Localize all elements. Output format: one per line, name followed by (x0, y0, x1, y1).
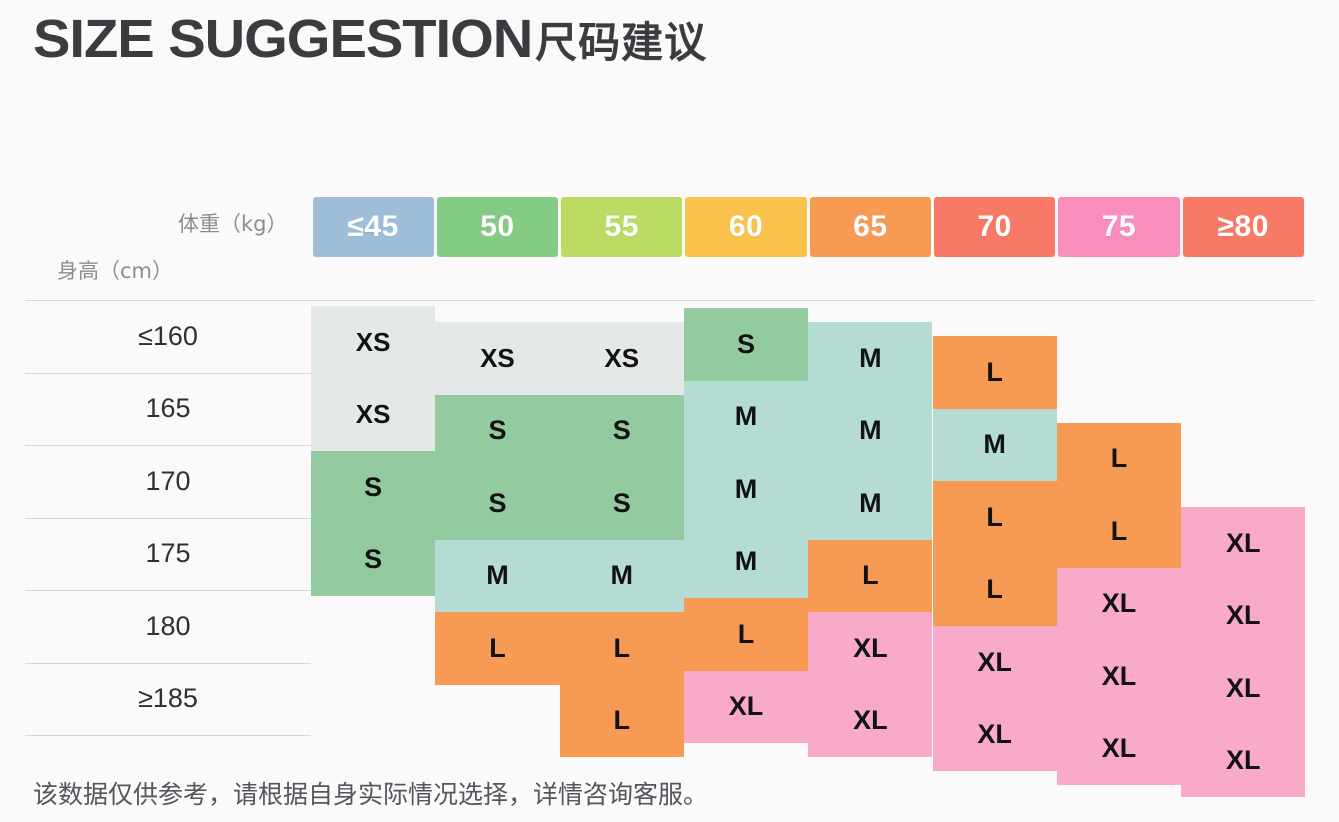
size-cell-label: M (486, 560, 509, 591)
row-divider (25, 735, 311, 736)
weight-header-50: 50 (437, 197, 558, 257)
height-row-label-text: ≤160 (138, 321, 198, 352)
size-cell-label: L (613, 633, 630, 664)
weight-header-label: 55 (605, 210, 639, 244)
size-cell-label: XL (1226, 600, 1261, 631)
size-cell-label: L (1111, 516, 1128, 547)
size-cell: XL (933, 699, 1057, 772)
size-cell: M (435, 540, 559, 613)
weight-header-70: 70 (934, 197, 1055, 257)
size-cell-label: S (737, 329, 755, 360)
size-cell-label: L (986, 574, 1003, 605)
size-cell-label: S (488, 415, 506, 446)
size-cell: L (933, 554, 1057, 627)
height-row-label-170: 170 (25, 445, 311, 518)
height-row-label-185: ≥185 (25, 663, 311, 736)
size-cell: XL (1181, 652, 1305, 725)
size-cell-label: XL (853, 633, 888, 664)
size-cell: L (435, 612, 559, 685)
size-cell: S (435, 467, 559, 540)
weight-header-55: 55 (561, 197, 682, 257)
size-cell: XL (1057, 640, 1181, 713)
size-chart-grid: ≤45505560657075≥80XSXSXSSMLXSSSMMMLSSSMM… (0, 0, 1339, 822)
size-cell: M (808, 395, 932, 468)
size-cell: M (684, 526, 808, 599)
size-cell-label: XL (853, 705, 888, 736)
size-cell: L (933, 336, 1057, 409)
size-cell: M (684, 453, 808, 526)
size-cell-label: M (983, 429, 1006, 460)
size-cell: M (560, 540, 684, 613)
size-cell-label: M (859, 415, 882, 446)
weight-header-label: ≤45 (347, 210, 398, 244)
height-row-label-text: 165 (145, 393, 190, 424)
size-cell-label: M (859, 488, 882, 519)
size-cell: XS (311, 379, 435, 452)
size-cell: S (684, 308, 808, 381)
size-cell-label: XL (1102, 661, 1137, 692)
size-cell: L (808, 540, 932, 613)
height-row-label-text: 180 (145, 611, 190, 642)
weight-header-label: 70 (977, 210, 1011, 244)
size-cell-label: XL (1226, 673, 1261, 704)
size-cell-label: L (986, 502, 1003, 533)
size-cell-label: M (735, 401, 758, 432)
size-cell-label: L (738, 619, 755, 650)
height-row-label-text: 175 (145, 538, 190, 569)
size-cell: M (933, 409, 1057, 482)
size-cell-label: M (735, 474, 758, 505)
size-cell-label: S (364, 544, 382, 575)
size-cell: S (311, 524, 435, 597)
size-cell-label: S (364, 472, 382, 503)
weight-header-label: 60 (729, 210, 763, 244)
size-cell-label: L (862, 560, 879, 591)
size-cell: XL (1181, 725, 1305, 798)
weight-header-75: 75 (1058, 197, 1179, 257)
size-cell: L (684, 598, 808, 671)
size-cell-label: L (1111, 443, 1128, 474)
size-cell: XL (1181, 507, 1305, 580)
size-cell-label: XL (1102, 588, 1137, 619)
weight-header-label: 50 (480, 210, 514, 244)
weight-header-label: ≥80 (1218, 210, 1269, 244)
size-cell: XL (1057, 713, 1181, 786)
size-cell-label: M (859, 343, 882, 374)
size-cell-label: S (613, 488, 631, 519)
size-cell: M (808, 322, 932, 395)
size-cell-label: XL (729, 691, 764, 722)
weight-header-80: ≥80 (1183, 197, 1304, 257)
size-cell: L (1057, 423, 1181, 496)
size-cell: XL (808, 685, 932, 758)
size-cell: XL (933, 626, 1057, 699)
size-cell: S (560, 467, 684, 540)
size-cell-label: S (488, 488, 506, 519)
height-row-label-165: 165 (25, 373, 311, 446)
size-cell: M (808, 467, 932, 540)
size-cell: M (684, 381, 808, 454)
weight-header-60: 60 (685, 197, 806, 257)
size-cell: XL (1057, 568, 1181, 641)
size-cell-label: S (613, 415, 631, 446)
height-row-label-160: ≤160 (25, 300, 311, 373)
weight-header-label: 75 (1102, 210, 1136, 244)
weight-header-65: 65 (810, 197, 931, 257)
size-cell-label: XL (1226, 528, 1261, 559)
size-cell-label: XS (480, 343, 515, 374)
size-cell: L (933, 481, 1057, 554)
weight-header-label: 65 (853, 210, 887, 244)
size-cell: L (1057, 495, 1181, 568)
size-cell: S (560, 395, 684, 468)
size-cell-label: M (610, 560, 633, 591)
size-cell-label: XS (356, 399, 391, 430)
size-cell-label: XL (977, 647, 1012, 678)
size-cell: L (560, 612, 684, 685)
size-cell: XL (684, 671, 808, 744)
size-cell-label: L (613, 705, 630, 736)
size-cell-label: L (489, 633, 506, 664)
size-cell: XS (435, 322, 559, 395)
size-cell-label: XL (977, 719, 1012, 750)
size-cell-label: XL (1226, 745, 1261, 776)
size-cell: S (311, 451, 435, 524)
height-row-label-text: 170 (145, 466, 190, 497)
size-cell: XS (560, 322, 684, 395)
size-cell-label: XS (604, 343, 639, 374)
height-row-label-text: ≥185 (138, 683, 198, 714)
size-cell: L (560, 685, 684, 758)
size-cell-label: M (735, 546, 758, 577)
footnote: 该数据仅供参考，请根据自身实际情况选择，详情咨询客服。 (33, 775, 708, 811)
height-row-label-180: 180 (25, 590, 311, 663)
size-cell: XL (1181, 580, 1305, 653)
height-row-label-175: 175 (25, 518, 311, 591)
size-cell-label: L (986, 357, 1003, 388)
size-cell: XS (311, 306, 435, 379)
weight-header-45: ≤45 (313, 197, 434, 257)
size-cell: XL (808, 612, 932, 685)
size-cell: S (435, 395, 559, 468)
size-cell-label: XL (1102, 733, 1137, 764)
size-cell-label: XS (356, 327, 391, 358)
